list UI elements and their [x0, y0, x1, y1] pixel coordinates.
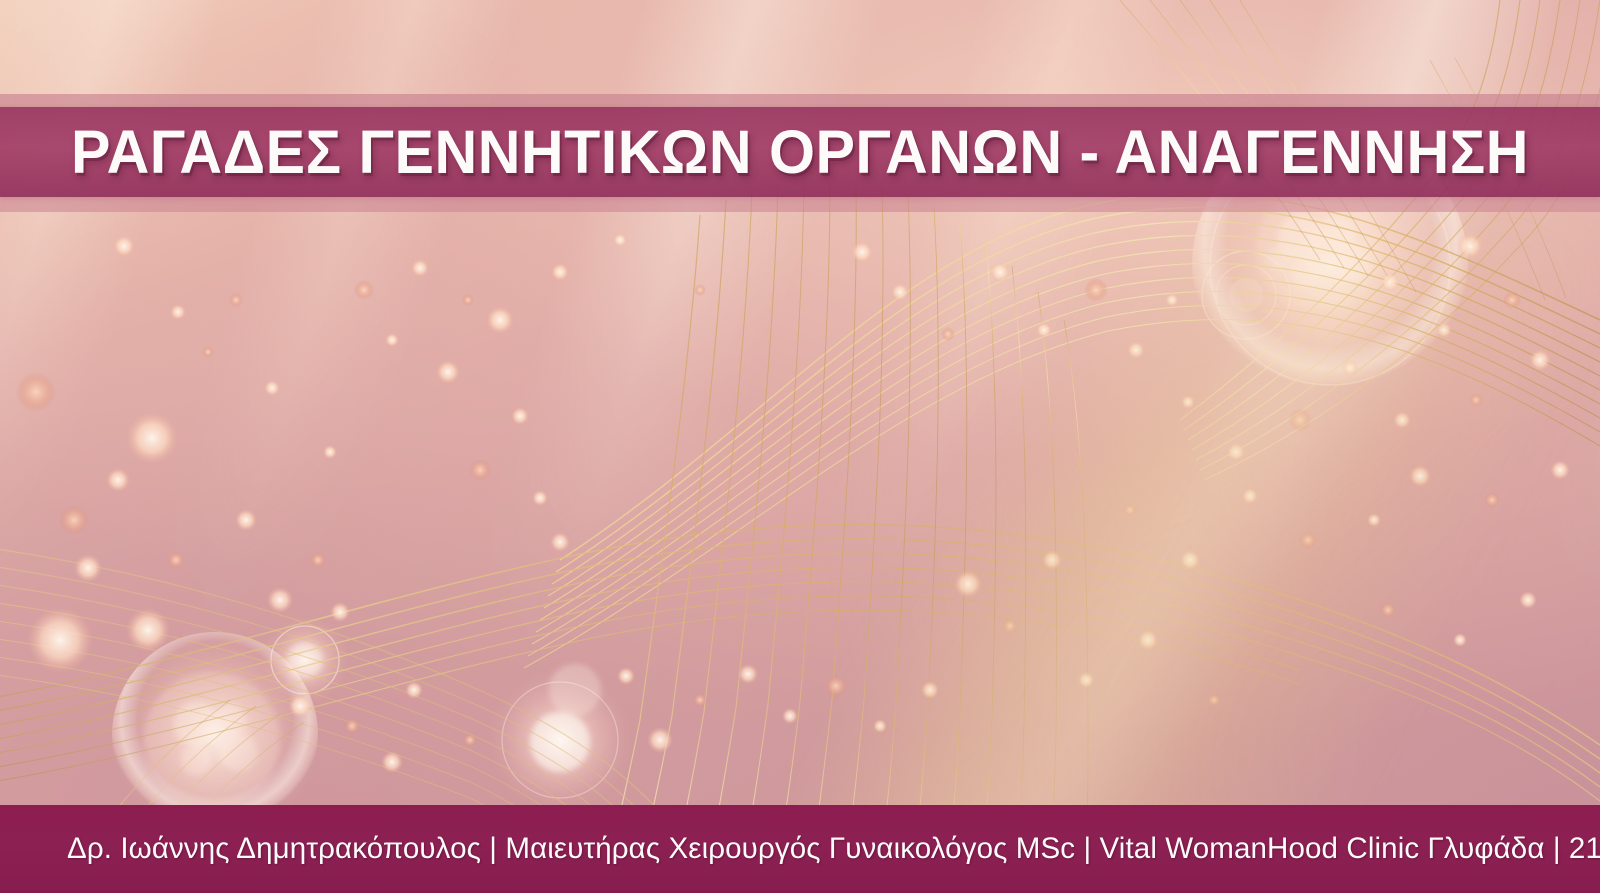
banner-strip-top	[0, 94, 1600, 107]
banner-image: ΡΑΓΑΔΕΣ ΓΕΝΝΗΤΙΚΩΝ ΟΡΓΑΝΩΝ - ΑΝΑΓΕΝΝΗΣΗ …	[0, 0, 1600, 893]
title-banner: ΡΑΓΑΔΕΣ ΓΕΝΝΗΤΙΚΩΝ ΟΡΓΑΝΩΝ - ΑΝΑΓΕΝΝΗΣΗ	[0, 94, 1600, 212]
page-title: ΡΑΓΑΔΕΣ ΓΕΝΝΗΤΙΚΩΝ ΟΡΓΑΝΩΝ - ΑΝΑΓΕΝΝΗΣΗ	[24, 107, 1576, 197]
footer-bar: Δρ. Ιωάννης Δημητρακόπουλος | Μαιευτήρας…	[0, 805, 1600, 893]
banner-strip-bottom	[0, 197, 1600, 212]
footer-credit-line: Δρ. Ιωάννης Δημητρακόπουλος | Μαιευτήρας…	[0, 832, 1600, 866]
